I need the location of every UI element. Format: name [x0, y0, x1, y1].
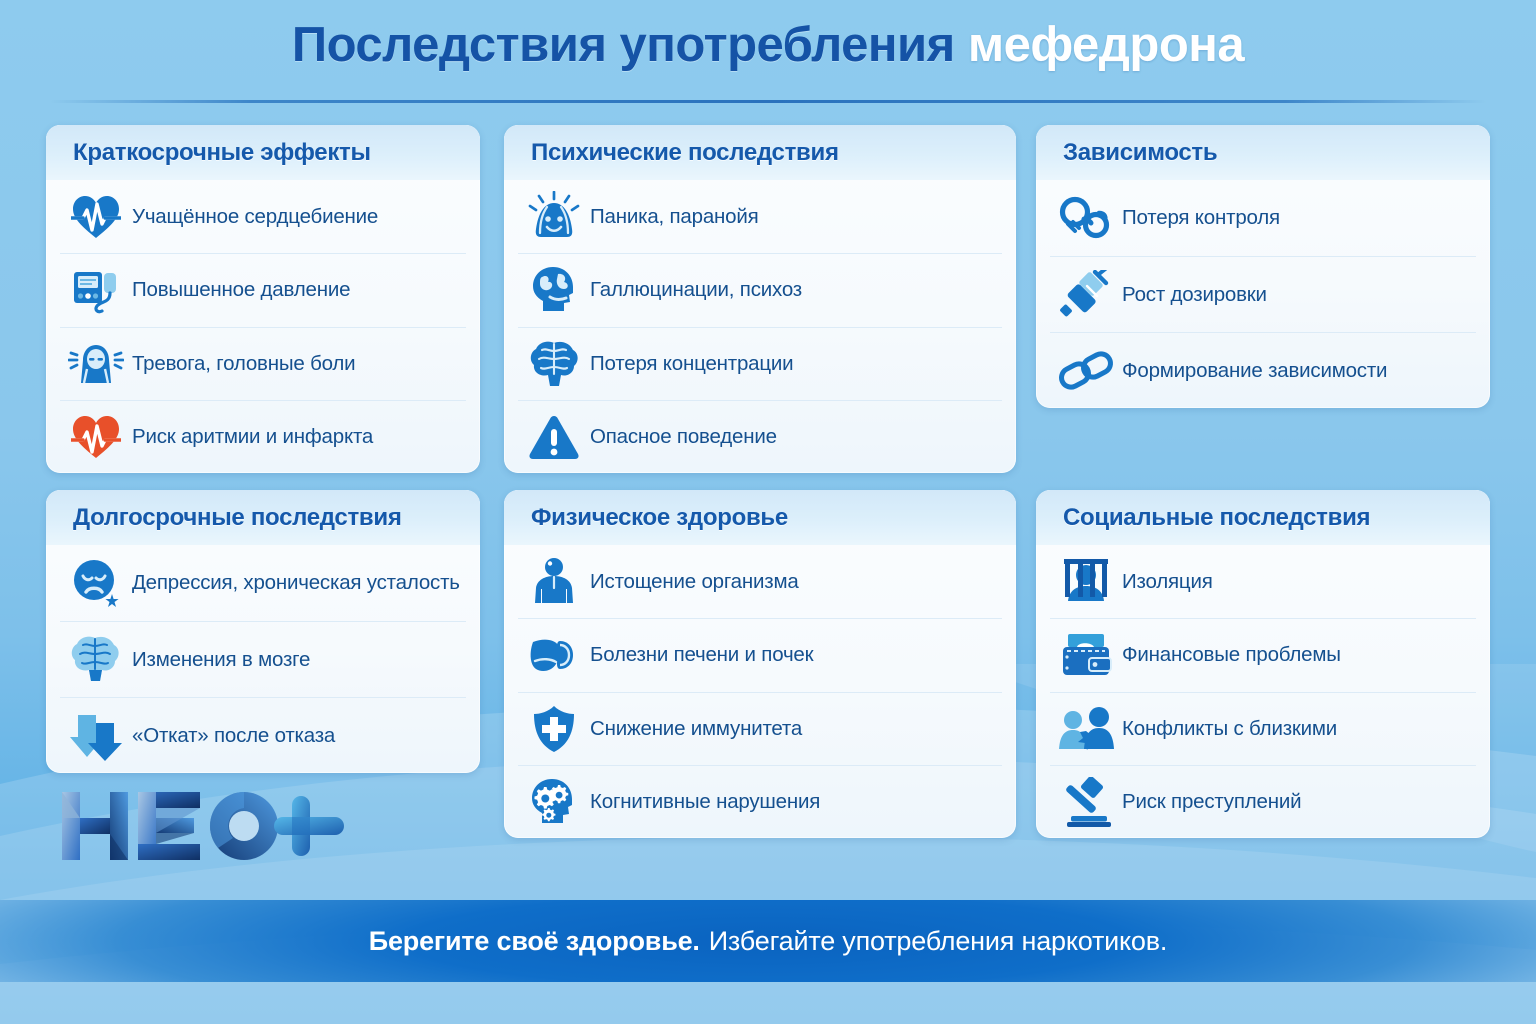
card-title: Физическое здоровье [531, 504, 788, 532]
card-header: Физическое здоровье [504, 490, 1016, 545]
list-item[interactable]: Конфликты с близкими [1050, 692, 1476, 765]
list-item[interactable]: Рост дозировки [1050, 256, 1476, 332]
warning-triangle-icon [518, 401, 590, 473]
panic-face-icon [518, 180, 590, 253]
list-item-label: Учащённое сердцебиение [132, 205, 378, 229]
gavel-icon [1050, 766, 1122, 838]
card-header: Краткосрочные эффекты [46, 125, 480, 180]
list-item-label: Повышенное давление [132, 278, 350, 302]
list-item-label: Рост дозировки [1122, 283, 1267, 307]
card-title: Краткосрочные эффекты [73, 139, 371, 167]
list-item-label: Истощение организма [590, 570, 799, 594]
list-item[interactable]: Галлюцинации, психоз [518, 253, 1002, 326]
list-item[interactable]: Когнитивные нарушения [518, 765, 1002, 838]
heartbeat-icon [60, 180, 132, 253]
list-item-label: Риск аритмии и инфаркта [132, 425, 373, 449]
thin-person-icon [518, 545, 590, 618]
card-title: Психические последствия [531, 139, 839, 167]
list-item-label: Паника, паранойя [590, 205, 759, 229]
wallet-icon [1050, 619, 1122, 691]
list-item[interactable]: Финансовые проблемы [1050, 618, 1476, 691]
blood-pressure-monitor-icon [60, 254, 132, 326]
footer-message-bold: Берегите своё здоровье. [369, 926, 700, 957]
brain-change-icon [60, 622, 132, 697]
card-long-term-consequences: Долгосрочные последствия Депрессия, хрон… [46, 490, 480, 773]
down-arrows-icon [60, 698, 132, 773]
card-social-consequences: Социальные последствия [1036, 490, 1490, 838]
liver-kidney-icon [518, 619, 590, 691]
card-header: Долгосрочные последствия [46, 490, 480, 545]
shield-cross-icon [518, 693, 590, 765]
card-title: Долгосрочные последствия [73, 504, 402, 532]
card-short-term-effects: Краткосрочные эффекты Учащённое сердцеби… [46, 125, 480, 473]
list-item-label: Опасное поведение [590, 425, 777, 449]
list-item[interactable]: Учащённое сердцебиение [60, 180, 466, 253]
list-item-label: Депрессия, хроническая усталость [132, 571, 460, 595]
list-item[interactable]: Снижение иммунитета [518, 692, 1002, 765]
heart-attack-icon [60, 401, 132, 473]
list-item-label: Финансовые проблемы [1122, 643, 1341, 667]
conflict-people-icon [1050, 693, 1122, 765]
list-item-label: Потеря концентрации [590, 352, 793, 376]
list-item[interactable]: Потеря концентрации [518, 327, 1002, 400]
card-header: Социальные последствия [1036, 490, 1490, 545]
list-item[interactable]: Опасное поведение [518, 400, 1002, 473]
list-item-label: Конфликты с близкими [1122, 717, 1337, 741]
list-item[interactable]: Формирование зависимости [1050, 332, 1476, 408]
list-item[interactable]: Повышенное давление [60, 253, 466, 326]
list-item[interactable]: Болезни печени и почек [518, 618, 1002, 691]
head-gears-icon [518, 766, 590, 838]
list-item[interactable]: «Откат» после отказа [60, 697, 466, 773]
list-item-label: Риск преступлений [1122, 790, 1301, 814]
list-item-label: Формирование зависимости [1122, 359, 1387, 383]
list-item[interactable]: Риск аритмии и инфаркта [60, 400, 466, 473]
chain-link-icon [1050, 333, 1122, 408]
handcuffs-icon [1050, 180, 1122, 256]
card-header: Психические последствия [504, 125, 1016, 180]
page-title-primary: Последствия употребления [292, 18, 955, 72]
card-title: Зависимость [1063, 139, 1217, 167]
card-dependence: Зависимость Потеря контроля [1036, 125, 1490, 408]
card-body: Истощение организма Болезни печени и поч… [504, 545, 1016, 838]
headache-person-icon [60, 328, 132, 400]
page-title: Последствия употребления мефедрона [0, 20, 1536, 71]
prison-bars-icon [1050, 545, 1122, 618]
list-item-label: Галлюцинации, психоз [590, 278, 802, 302]
infographic-canvas: Последствия употребления мефедрона Кратк… [0, 0, 1536, 1024]
card-body: Потеря контроля Рост дозировки [1036, 180, 1490, 408]
list-item-label: «Откат» после отказа [132, 724, 335, 748]
card-physical-health: Физическое здоровье Истощение организма [504, 490, 1016, 838]
list-item[interactable]: Депрессия, хроническая усталость [60, 545, 466, 621]
list-item-label: Изоляция [1122, 570, 1213, 594]
syringe-icon [1050, 257, 1122, 332]
page-title-highlight: мефедрона [968, 18, 1244, 72]
hallucination-head-icon [518, 254, 590, 326]
title-divider [50, 100, 1486, 103]
list-item-label: Снижение иммунитета [590, 717, 802, 741]
card-body: Изоляция [1036, 545, 1490, 838]
brain-icon [518, 328, 590, 400]
card-mental-consequences: Психические последствия [504, 125, 1016, 473]
list-item[interactable]: Истощение организма [518, 545, 1002, 618]
list-item[interactable]: Изменения в мозге [60, 621, 466, 697]
list-item-label: Изменения в мозге [132, 648, 310, 672]
logo-neo-plus[interactable]: НЕО+ [58, 788, 348, 864]
card-title: Социальные последствия [1063, 504, 1370, 532]
list-item[interactable]: Паника, паранойя [518, 180, 1002, 253]
list-item[interactable]: Потеря контроля [1050, 180, 1476, 256]
list-item[interactable]: Изоляция [1050, 545, 1476, 618]
sad-face-icon [60, 545, 132, 621]
footer-message-regular: Избегайте употребления наркотиков. [709, 926, 1167, 957]
card-body: Учащённое сердцебиение [46, 180, 480, 473]
card-body: Депрессия, хроническая усталость [46, 545, 480, 773]
list-item-label: Потеря контроля [1122, 206, 1280, 230]
card-header: Зависимость [1036, 125, 1490, 180]
list-item-label: Тревога, головные боли [132, 352, 355, 376]
list-item[interactable]: Риск преступлений [1050, 765, 1476, 838]
footer-message: Берегите своё здоровье. Избегайте употре… [0, 900, 1536, 982]
list-item-label: Болезни печени и почек [590, 643, 813, 667]
list-item[interactable]: Тревога, головные боли [60, 327, 466, 400]
card-body: Паника, паранойя Галлюцинации, психоз [504, 180, 1016, 473]
list-item-label: Когнитивные нарушения [590, 790, 820, 814]
